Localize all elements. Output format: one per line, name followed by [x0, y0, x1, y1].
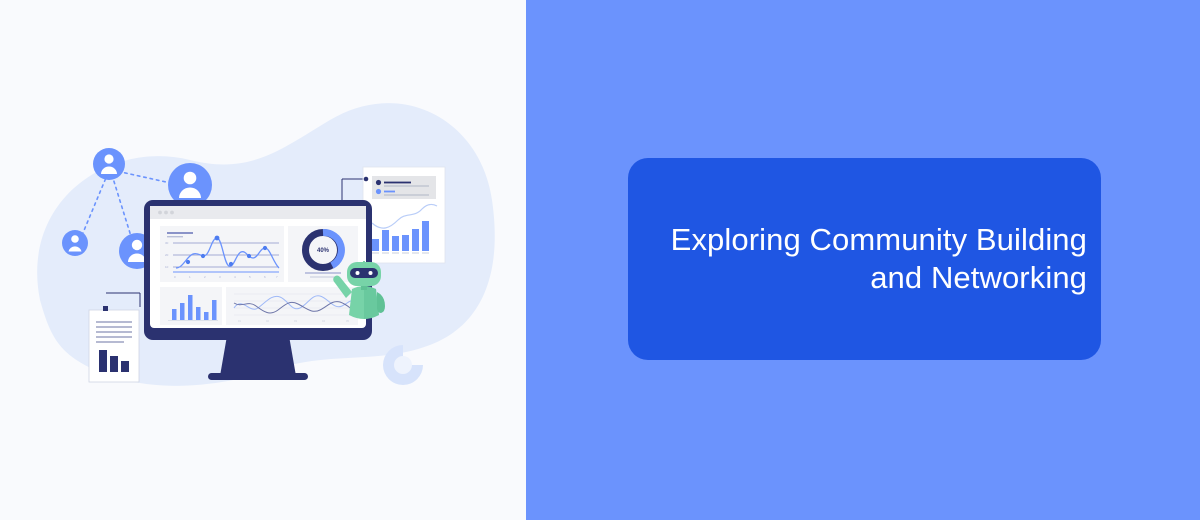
avatar-head-icon [184, 172, 197, 185]
refresh-loader-icon [383, 345, 423, 385]
robot-visor [350, 268, 378, 278]
document-anchor-dot [103, 306, 108, 311]
left-illustration-panel: 30 20 10 0 [0, 0, 526, 520]
robot-eye-left [356, 271, 360, 275]
monitor-titlebar [150, 206, 366, 219]
avatar-node-3[interactable] [62, 230, 88, 256]
svg-text:30: 30 [165, 241, 169, 245]
bar-chart-widget[interactable] [160, 287, 222, 325]
avatar-head-icon [104, 154, 113, 163]
svg-text:20: 20 [165, 253, 169, 257]
avatar-head-icon [132, 240, 142, 250]
report-card-anchor-dot [364, 177, 369, 182]
titlebar-dot-3 [170, 211, 174, 215]
avatar-node-1[interactable] [93, 148, 125, 180]
svg-text:10: 10 [165, 265, 169, 269]
avatar-head-icon [71, 235, 79, 243]
page-root: 30 20 10 0 [0, 0, 1200, 520]
line-chart-widget[interactable]: 30 20 10 0 [160, 226, 284, 282]
title-card[interactable]: Exploring Community Building and Network… [628, 158, 1101, 360]
report-bullet-dot-2 [376, 189, 381, 194]
analytics-illustration: 30 20 10 0 [0, 0, 526, 520]
titlebar-dot-1 [158, 211, 162, 215]
page-title: Exploring Community Building and Network… [647, 221, 1101, 297]
robot-eye-right [369, 271, 373, 275]
wave-chart-widget[interactable]: 01 02 03 04 05 [226, 287, 358, 325]
titlebar-dot-2 [164, 211, 168, 215]
report-bullet-dot-1 [376, 180, 381, 185]
donut-value-label: 40% [317, 248, 330, 254]
monitor-base [208, 373, 308, 380]
